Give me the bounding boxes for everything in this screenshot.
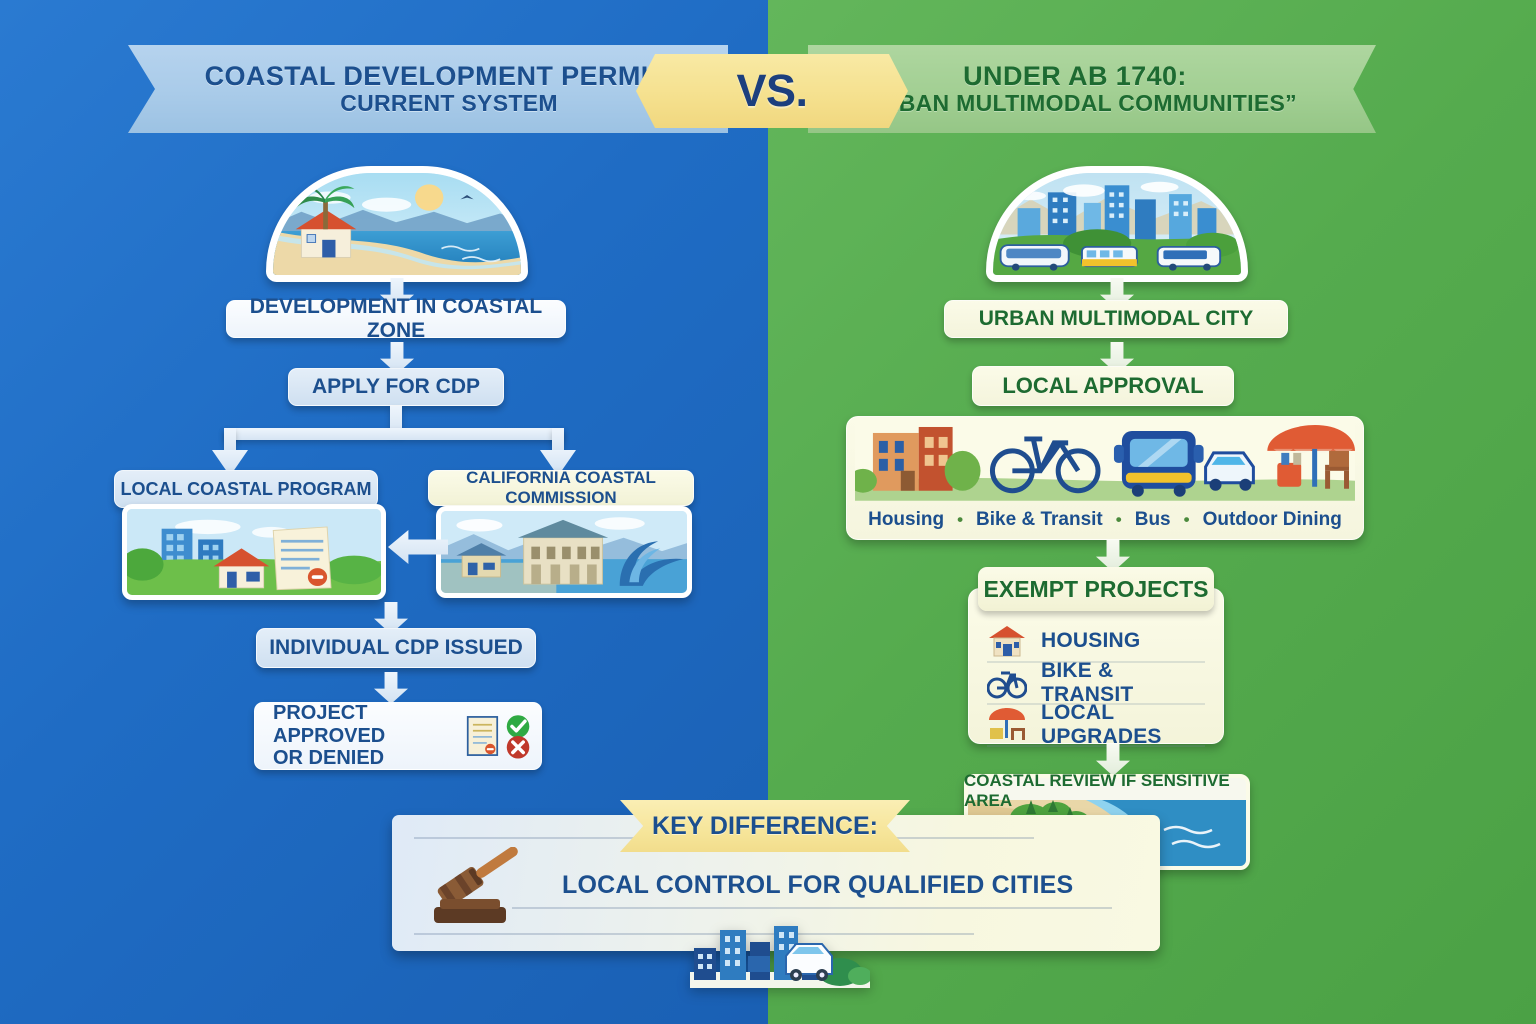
right-step-urban-multimodal-city: URBAN MULTIMODAL CITY (944, 300, 1288, 338)
left-branch-2-image (436, 506, 692, 598)
left-step-apply-for-cdp: APPLY FOR CDP (288, 368, 504, 406)
key-difference-ribbon: KEY DIFFERENCE: (620, 800, 910, 852)
mode-separator-3: • (1184, 510, 1190, 530)
left-outcome-2-label-line1: PROJECT APPROVED (273, 702, 456, 747)
house-icon (987, 624, 1027, 658)
coastal-review-label: COASTAL REVIEW IF SENSITIVE AREA (964, 778, 1250, 804)
mode-label-bike-transit: Bike & Transit (976, 509, 1103, 531)
modes-strip-card: Housing • Bike & Transit • Bus • Outdoor… (846, 416, 1364, 540)
mode-label-outdoor-dining: Outdoor Dining (1203, 509, 1342, 531)
left-branch-california-coastal-commission: CALIFORNIA COASTAL COMMISSION (428, 470, 694, 506)
city-with-van-icon (690, 920, 870, 988)
left-step-development-in-coastal-zone: DEVELOPMENT IN COASTAL ZONE (226, 300, 566, 338)
exempt-label-bike-transit: BIKE & TRANSIT (1041, 659, 1205, 707)
left-branch-1-image (122, 504, 386, 600)
exempt-row-housing: HOUSING (987, 621, 1205, 663)
left-branch-local-coastal-program: LOCAL COASTAL PROGRAM (114, 470, 378, 508)
right-step-local-approval: LOCAL APPROVAL (972, 366, 1234, 406)
split-branch-right-stem (552, 428, 564, 452)
left-step-project-approved-or-denied: PROJECT APPROVED OR DENIED (254, 702, 542, 770)
right-header-subtitle: “URBAN MULTIMODAL COMMUNITIES” (853, 91, 1297, 117)
left-step-1-label: DEVELOPMENT IN COASTAL ZONE (227, 295, 565, 343)
left-branch-2-label: CALIFORNIA COASTAL COMMISSION (429, 468, 693, 508)
vs-badge: VS. (636, 54, 908, 128)
check-circle-icon (507, 715, 530, 738)
mode-separator-2: • (1116, 510, 1122, 530)
exempt-row-local-upgrades: LOCAL UPGRADES (987, 705, 1205, 747)
vs-label: VS. (736, 65, 807, 117)
approval-icons (466, 710, 541, 762)
exempt-label-local-upgrades: LOCAL UPGRADES (1041, 701, 1205, 749)
left-step-2-label: APPLY FOR CDP (312, 375, 480, 399)
exempt-projects-card: EXEMPT PROJECTS HOUSING (968, 588, 1224, 744)
split-bar (224, 428, 564, 440)
exempt-row-bike-transit: BIKE & TRANSIT (987, 663, 1205, 705)
left-step-individual-cdp-issued: INDIVIDUAL CDP ISSUED (256, 628, 536, 668)
gavel-icon (424, 847, 536, 929)
right-header-title: UNDER AB 1740: (853, 62, 1297, 91)
left-header-subtitle: CURRENT SYSTEM (205, 91, 694, 117)
mode-label-bus: Bus (1135, 509, 1171, 531)
umbrella-patio-icon (987, 708, 1027, 742)
cross-circle-icon (507, 736, 530, 759)
exempt-projects-title: EXEMPT PROJECTS (978, 567, 1214, 611)
mode-separator-1: • (957, 510, 963, 530)
exempt-label-housing: HOUSING (1041, 629, 1140, 653)
key-difference-rule-mid (512, 907, 1112, 909)
left-outcome-1-label: INDIVIDUAL CDP ISSUED (269, 636, 523, 660)
left-branch-1-label: LOCAL COASTAL PROGRAM (121, 479, 372, 500)
left-outcome-2-label-line2: OR DENIED (273, 747, 456, 769)
right-step-2-label: LOCAL APPROVAL (1002, 373, 1203, 399)
right-step-1-label: URBAN MULTIMODAL CITY (979, 307, 1254, 331)
key-difference-main-label: LOCAL CONTROL FOR QUALIFIED CITIES (562, 871, 1073, 900)
left-header-title: COASTAL DEVELOPMENT PERMITS: (205, 62, 694, 91)
infographic-canvas: COASTAL DEVELOPMENT PERMITS: CURRENT SYS… (0, 0, 1536, 1024)
document-icon (468, 717, 497, 755)
key-difference-ribbon-label: KEY DIFFERENCE: (652, 812, 878, 841)
bicycle-icon (987, 666, 1027, 700)
modes-illustration (855, 423, 1355, 501)
modes-labels: Housing • Bike & Transit • Bus • Outdoor… (847, 509, 1363, 531)
mode-label-housing: Housing (868, 509, 944, 531)
split-branch-left-stem (224, 428, 236, 452)
